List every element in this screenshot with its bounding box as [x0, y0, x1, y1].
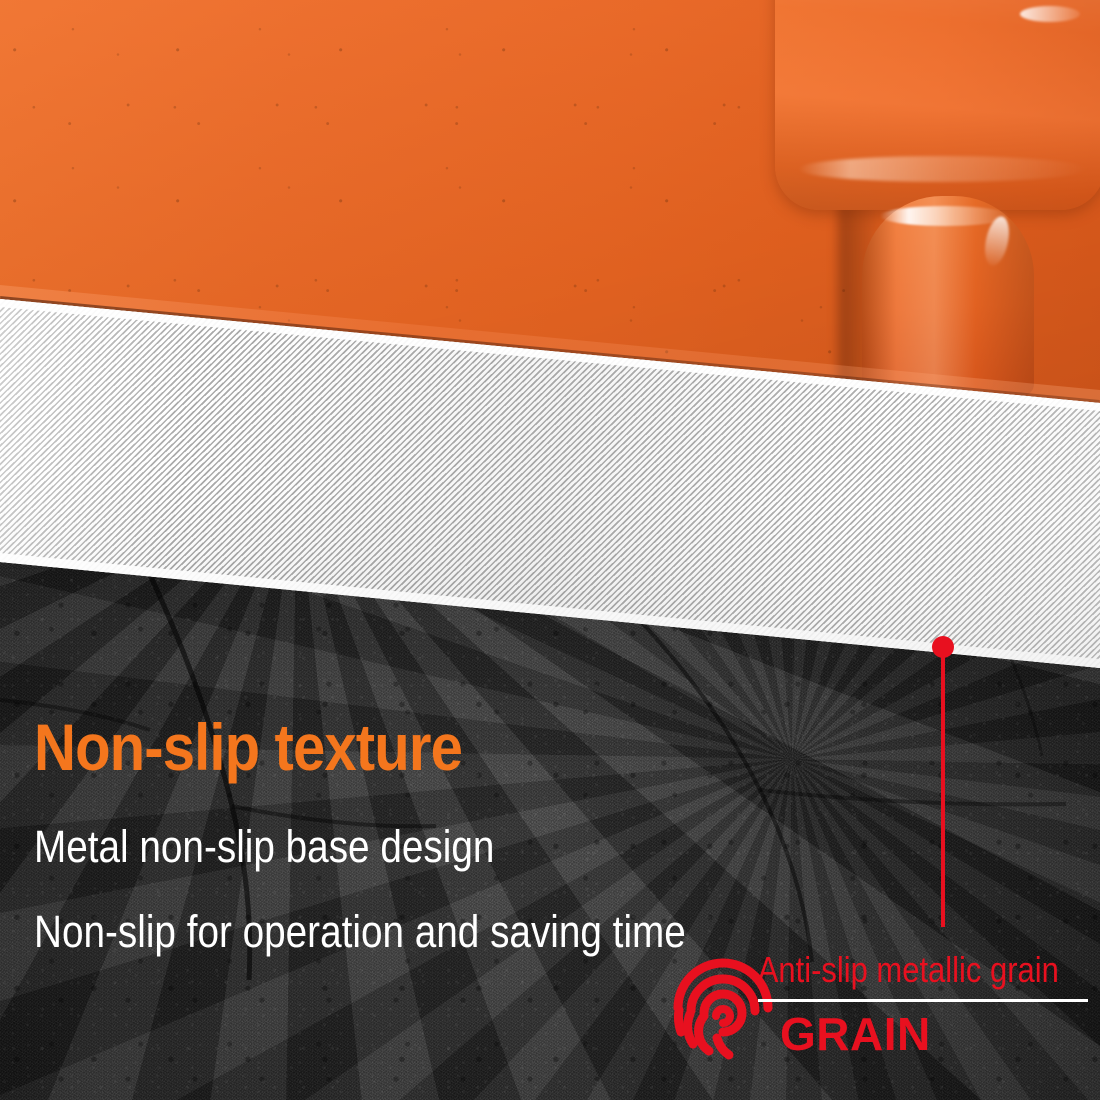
pad-gloss-highlight: [798, 156, 1088, 182]
boss-top-highlight: [880, 206, 1010, 226]
callout-anchor-dot: [932, 636, 954, 658]
feature-line-2: Non-slip for operation and saving time: [34, 909, 808, 954]
grain-badge-caption: Anti-slip metallic grain: [756, 952, 1045, 988]
copy-block: Non-slip texture Metal non-slip base des…: [34, 714, 934, 954]
grain-badge-text: Anti-slip metallic grain GRAIN: [756, 952, 1092, 1057]
feature-line-1: Metal non-slip base design: [34, 824, 808, 869]
pad-highlight-notch: [1020, 6, 1080, 22]
grain-badge: Anti-slip metallic grain GRAIN: [672, 952, 1092, 1072]
callout-leader-line: [941, 650, 945, 927]
product-feature-banner: Non-slip texture Metal non-slip base des…: [0, 0, 1100, 1100]
page-title: Non-slip texture: [34, 714, 826, 780]
grain-badge-divider: [758, 999, 1088, 1002]
grain-badge-word: GRAIN: [780, 1011, 1092, 1057]
